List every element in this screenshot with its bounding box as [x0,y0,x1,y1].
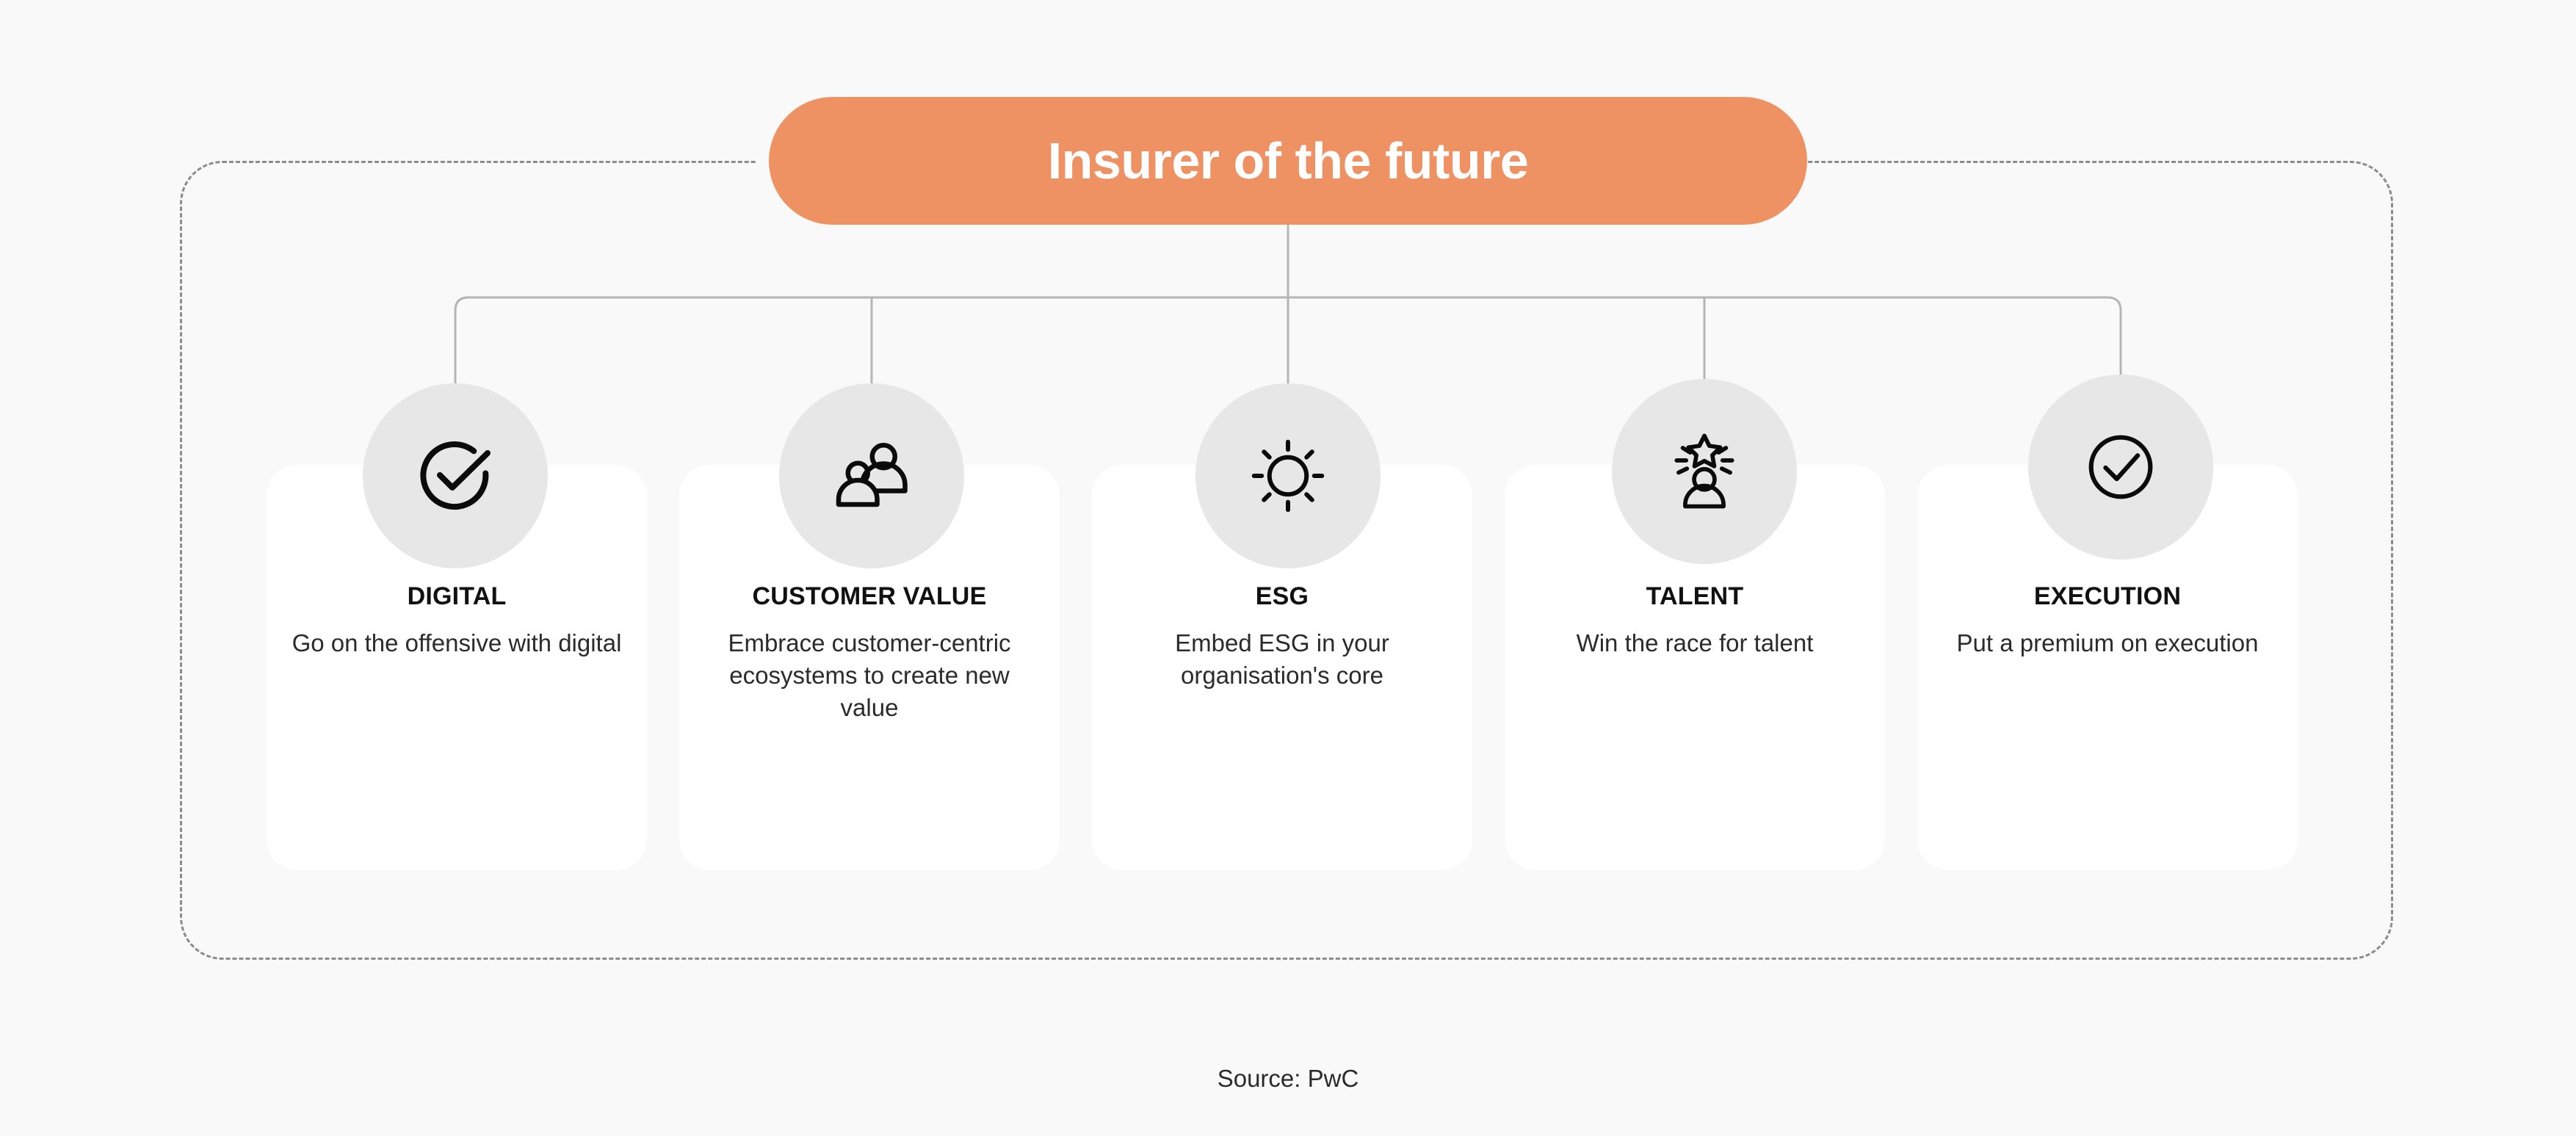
card-title: ESG [1092,582,1472,611]
card-body: Win the race for talent [1505,627,1885,659]
icon-bubble-digital [363,383,548,568]
card-body: Go on the offensive with digital [267,627,647,659]
page-title: Insurer of the future [1048,135,1529,187]
card-title: CUSTOMER VALUE [679,582,1060,611]
diagram-canvas: Insurer of the future DIGITAL Go on the … [0,0,2576,1136]
icon-bubble-customer-value [779,383,964,568]
check-circle-outline-icon [2077,424,2164,510]
card-body: Embrace customer-centric ecosystems to c… [679,627,1060,724]
card-title: EXECUTION [1917,582,2298,611]
two-people-icon [828,432,916,520]
icon-bubble-esg [1195,383,1381,568]
card-title: TALENT [1505,582,1885,611]
source-note: Source: PwC [0,1065,2576,1093]
card-body: Put a premium on execution [1917,627,2298,659]
header-pill: Insurer of the future [769,97,1807,225]
sun-icon [1244,432,1332,520]
icon-bubble-talent [1612,379,1797,564]
check-circle-icon [411,432,499,520]
card-body: Embed ESG in your organisation's core [1092,627,1472,692]
card-title: DIGITAL [267,582,647,611]
person-star-icon [1659,426,1750,517]
icon-bubble-execution [2028,375,2213,560]
